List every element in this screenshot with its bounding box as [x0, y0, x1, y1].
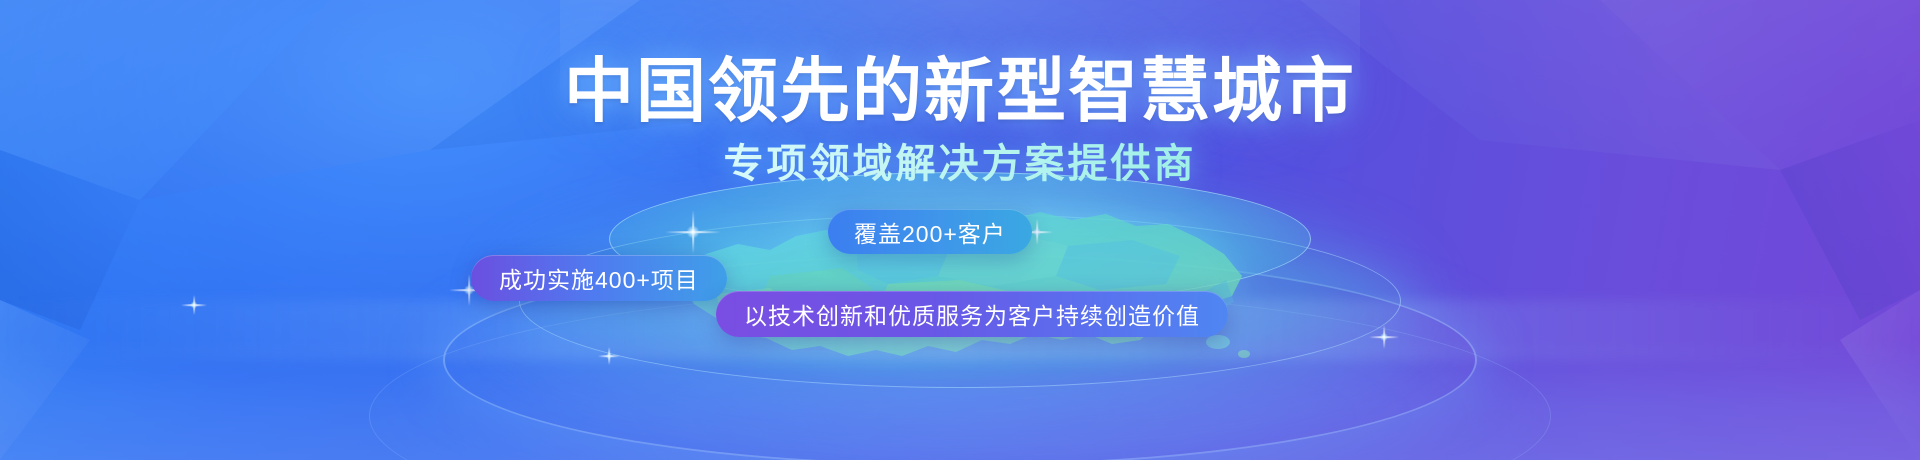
- hero-banner: 中国领先的新型智慧城市 专项领域解决方案提供商 成功实施400+项目 覆盖200…: [0, 0, 1920, 460]
- sparkle-star: [596, 343, 622, 369]
- sparkle-star: [179, 290, 209, 320]
- banner-title: 中国领先的新型智慧城市: [0, 0, 1920, 126]
- bottom-haze: [0, 340, 1920, 460]
- banner-subtitle: 专项领域解决方案提供商: [0, 126, 1920, 184]
- sparkle-star: [663, 202, 723, 262]
- badge-clients[interactable]: 覆盖200+客户: [828, 209, 1032, 254]
- badge-projects[interactable]: 成功实施400+项目: [471, 255, 727, 301]
- badge-value[interactable]: 以技术创新和优质服务为客户持续创造价值: [716, 291, 1228, 337]
- sparkle-star: [1367, 320, 1401, 354]
- headline-block: 中国领先的新型智慧城市 专项领域解决方案提供商: [0, 0, 1920, 184]
